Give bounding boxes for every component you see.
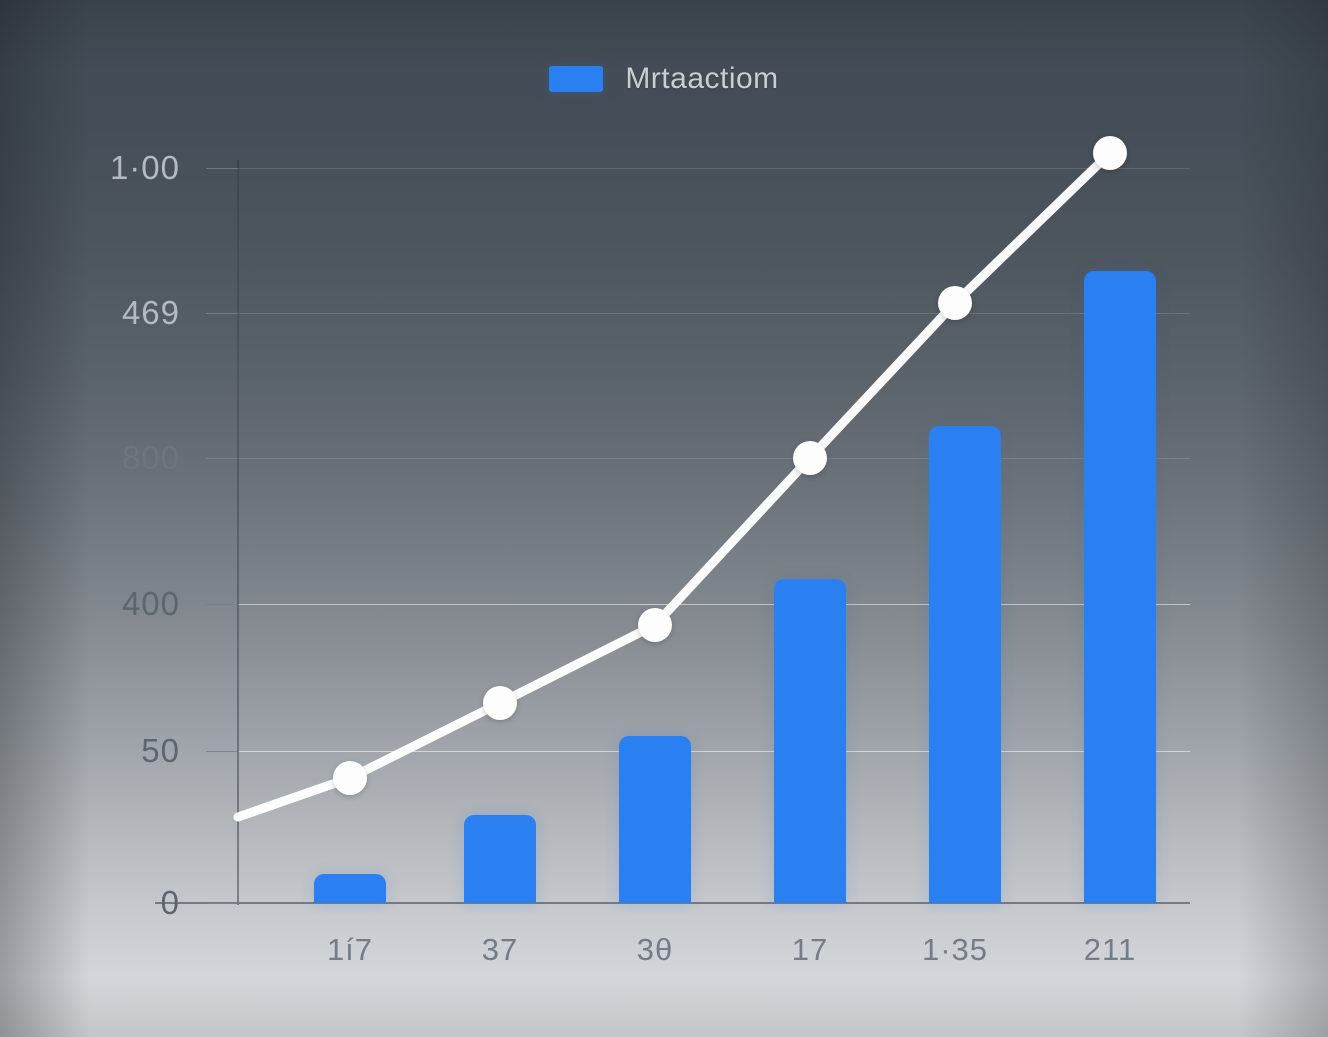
bar-series-value[interactable] [1084,271,1156,903]
y-tick-mark [206,458,238,459]
gridline-3 [238,458,1190,459]
bar-series-value[interactable] [774,579,846,903]
x-axis-tick-label: 3θ [637,932,673,968]
y-tick-mark [206,604,238,605]
chart-canvas: Mrtaactiom 1·00 469 800 400 50 0 1í7 37 … [0,0,1328,1037]
legend-item-mrtaactiom[interactable]: Mrtaactiom [549,62,778,96]
y-axis-line [237,160,239,905]
gridline-1 [238,168,1190,169]
line-marker-point[interactable] [483,686,517,720]
chart-legend: Mrtaactiom [0,62,1328,96]
y-axis-tick-label: 400 [122,585,180,623]
x-axis-tick-label: 37 [482,932,518,968]
y-tick-mark [206,903,238,904]
line-marker-point[interactable] [638,608,672,642]
gridline-4 [238,604,1190,605]
bar-series-value[interactable] [464,815,536,903]
gridline-2 [238,313,1190,314]
line-marker-point[interactable] [1093,136,1127,170]
y-axis-tick-label: 50 [141,732,180,770]
line-marker-point[interactable] [793,441,827,475]
legend-swatch-icon [549,66,603,92]
y-axis-tick-label: 0 [161,884,180,922]
line-marker-point[interactable] [938,286,972,320]
x-axis-tick-label: 1í7 [327,932,373,968]
legend-item-label: Mrtaactiom [625,62,778,96]
y-axis-tick-label: 469 [122,294,180,332]
x-axis-tick-label: 1·35 [922,932,988,968]
bar-series-value[interactable] [314,874,386,903]
y-axis-tick-label: 1·00 [110,149,180,187]
y-tick-mark [206,313,238,314]
line-marker-point[interactable] [333,761,367,795]
gridline-5 [238,751,1190,752]
plot-area [238,168,1190,903]
y-tick-mark [206,168,238,169]
x-axis-tick-label: 17 [792,932,828,968]
y-tick-mark [206,751,238,752]
x-axis-tick-label: 211 [1084,932,1136,968]
y-axis-tick-label: 800 [122,439,180,477]
bar-series-value[interactable] [619,736,691,903]
bar-series-value[interactable] [929,426,1001,903]
